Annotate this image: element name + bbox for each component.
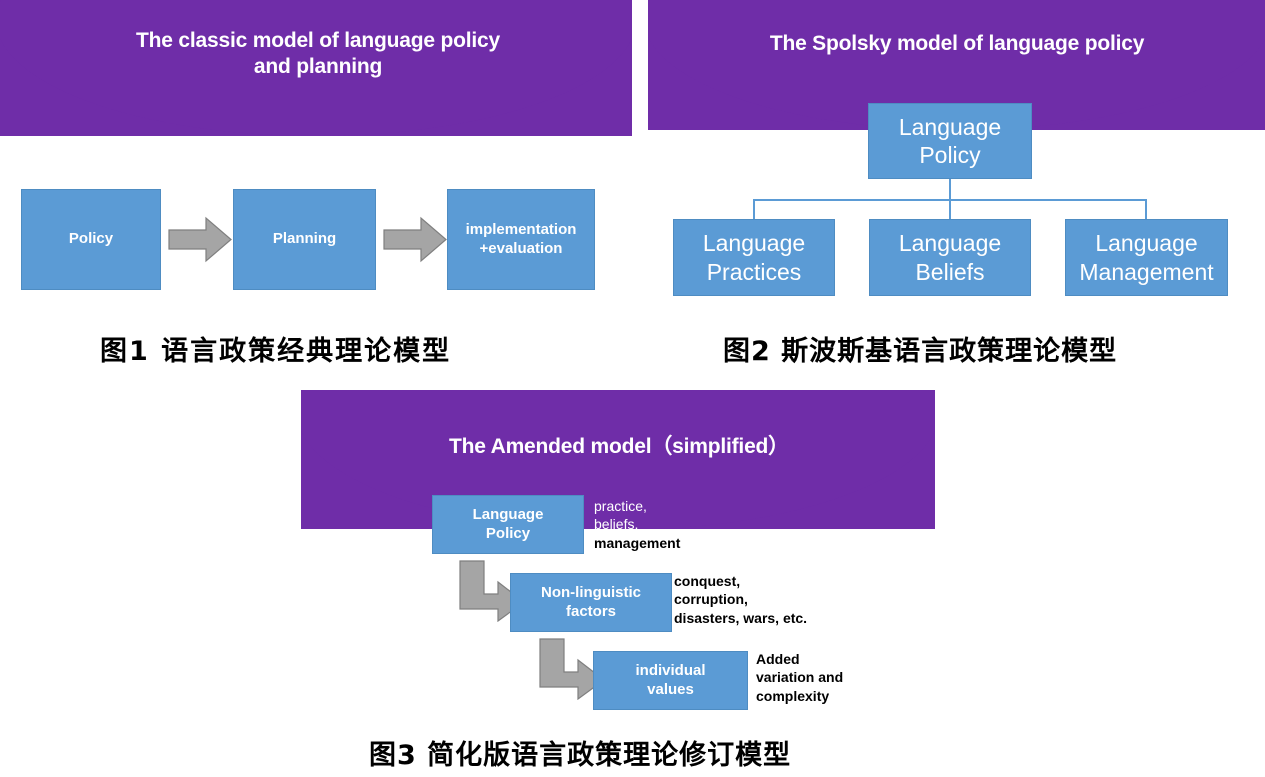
figure3-annotation-language-policy-line2: beliefs, bbox=[594, 515, 680, 533]
figure3-box-language-policy-text: Language Policy bbox=[473, 506, 544, 543]
figure1-box-planning[interactable]: Planning bbox=[233, 189, 376, 290]
figure1-caption: 图1 语言政策经典理论模型 bbox=[100, 329, 451, 368]
figure3-box-individual-values[interactable]: individual values bbox=[593, 651, 748, 710]
figure3-annotation-non-linguistic-factors-line3: disasters, wars, etc. bbox=[674, 609, 807, 627]
figure3-box-non-linguistic-factors-text: Non-linguistic factors bbox=[541, 584, 641, 621]
figure1-arrow-policy-to-planning bbox=[168, 216, 232, 263]
figure3-box-non-linguistic-factors-line2: factors bbox=[566, 603, 616, 620]
figure2-connector-horizontal bbox=[753, 199, 1147, 201]
figure1-arrow-planning-to-implementation bbox=[383, 216, 447, 263]
figure2-connector-branch-left bbox=[753, 199, 755, 220]
figure2-connector-branch-right bbox=[1145, 199, 1147, 220]
figure3-annotation-language-policy-line1: practice, bbox=[594, 497, 680, 515]
diagram-canvas: The classic model of language policy and… bbox=[0, 0, 1265, 777]
figure3-caption: 图3 简化版语言政策理论修订模型 bbox=[369, 733, 791, 772]
figure1-banner-title-line1: The classic model of language policy bbox=[136, 29, 500, 52]
figure3-box-non-linguistic-factors[interactable]: Non-linguistic factors bbox=[510, 573, 672, 632]
figure3-banner-title: The Amended model（simplified） bbox=[341, 434, 897, 460]
figure1-box-policy[interactable]: Policy bbox=[21, 189, 161, 290]
figure1-box-policy-label: Policy bbox=[69, 230, 113, 248]
figure3-annotation-individual-values-line2: variation and bbox=[756, 668, 843, 686]
figure2-box-language-beliefs-line1: Language bbox=[899, 230, 1001, 256]
right-arrow-icon bbox=[168, 216, 232, 263]
figure3-annotation-non-linguistic-factors: conquest, corruption, disasters, wars, e… bbox=[674, 572, 807, 627]
figure3-box-individual-values-line1: individual bbox=[635, 662, 705, 679]
figure2-box-language-management-line1: Language bbox=[1095, 230, 1197, 256]
figure2-box-language-practices-line1: Language bbox=[703, 230, 805, 256]
figure3-box-language-policy-line2: Policy bbox=[486, 525, 530, 542]
figure2-box-language-practices-text: Language Practices bbox=[703, 229, 805, 285]
figure2-box-language-beliefs-text: Language Beliefs bbox=[899, 229, 1001, 285]
figure1-box-implementation-line1: implementation bbox=[466, 221, 577, 238]
figure2-box-language-policy[interactable]: Language Policy bbox=[868, 103, 1032, 179]
figure2-box-language-practices-line2: Practices bbox=[707, 259, 802, 285]
figure2-caption: 图2 斯波斯基语言政策理论模型 bbox=[723, 329, 1117, 368]
figure3-annotation-individual-values-line3: complexity bbox=[756, 687, 843, 705]
figure3-annotation-individual-values: Added variation and complexity bbox=[756, 650, 843, 705]
figure3-annotation-non-linguistic-factors-line1: conquest, bbox=[674, 572, 807, 590]
figure3-annotation-language-policy: practice, beliefs, management bbox=[594, 497, 680, 552]
figure2-banner-title: The Spolsky model of language policy bbox=[668, 31, 1246, 57]
figure1-box-planning-label: Planning bbox=[273, 230, 336, 248]
figure3-box-individual-values-text: individual values bbox=[635, 662, 705, 699]
figure3-box-language-policy[interactable]: Language Policy bbox=[432, 495, 584, 554]
figure2-box-language-management-line2: Management bbox=[1079, 259, 1213, 285]
figure1-box-implementation-line2: +evaluation bbox=[480, 240, 563, 257]
figure3-box-language-policy-line1: Language bbox=[473, 506, 544, 523]
figure2-box-language-management-text: Language Management bbox=[1079, 229, 1213, 285]
figure3-box-non-linguistic-factors-line1: Non-linguistic bbox=[541, 584, 641, 601]
figure1-box-implementation-text: implementation +evaluation bbox=[466, 221, 577, 258]
figure1-banner-title: The classic model of language policy and… bbox=[58, 28, 578, 81]
figure2-box-language-management[interactable]: Language Management bbox=[1065, 219, 1228, 296]
figure2-box-language-practices[interactable]: Language Practices bbox=[673, 219, 835, 296]
figure3-annotation-language-policy-line3: management bbox=[594, 534, 680, 552]
figure2-box-language-policy-line2: Policy bbox=[919, 142, 980, 168]
figure1-banner-title-line2: and planning bbox=[254, 55, 382, 78]
figure3-annotation-non-linguistic-factors-line2: corruption, bbox=[674, 590, 807, 608]
right-arrow-icon bbox=[383, 216, 447, 263]
figure2-box-language-policy-text: Language Policy bbox=[899, 113, 1001, 169]
figure2-box-language-beliefs-line2: Beliefs bbox=[915, 259, 984, 285]
figure2-box-language-policy-line1: Language bbox=[899, 114, 1001, 140]
figure3-box-individual-values-line2: values bbox=[647, 681, 694, 698]
figure2-box-language-beliefs[interactable]: Language Beliefs bbox=[869, 219, 1031, 296]
figure3-annotation-individual-values-line1: Added bbox=[756, 650, 843, 668]
figure1-box-implementation[interactable]: implementation +evaluation bbox=[447, 189, 595, 290]
